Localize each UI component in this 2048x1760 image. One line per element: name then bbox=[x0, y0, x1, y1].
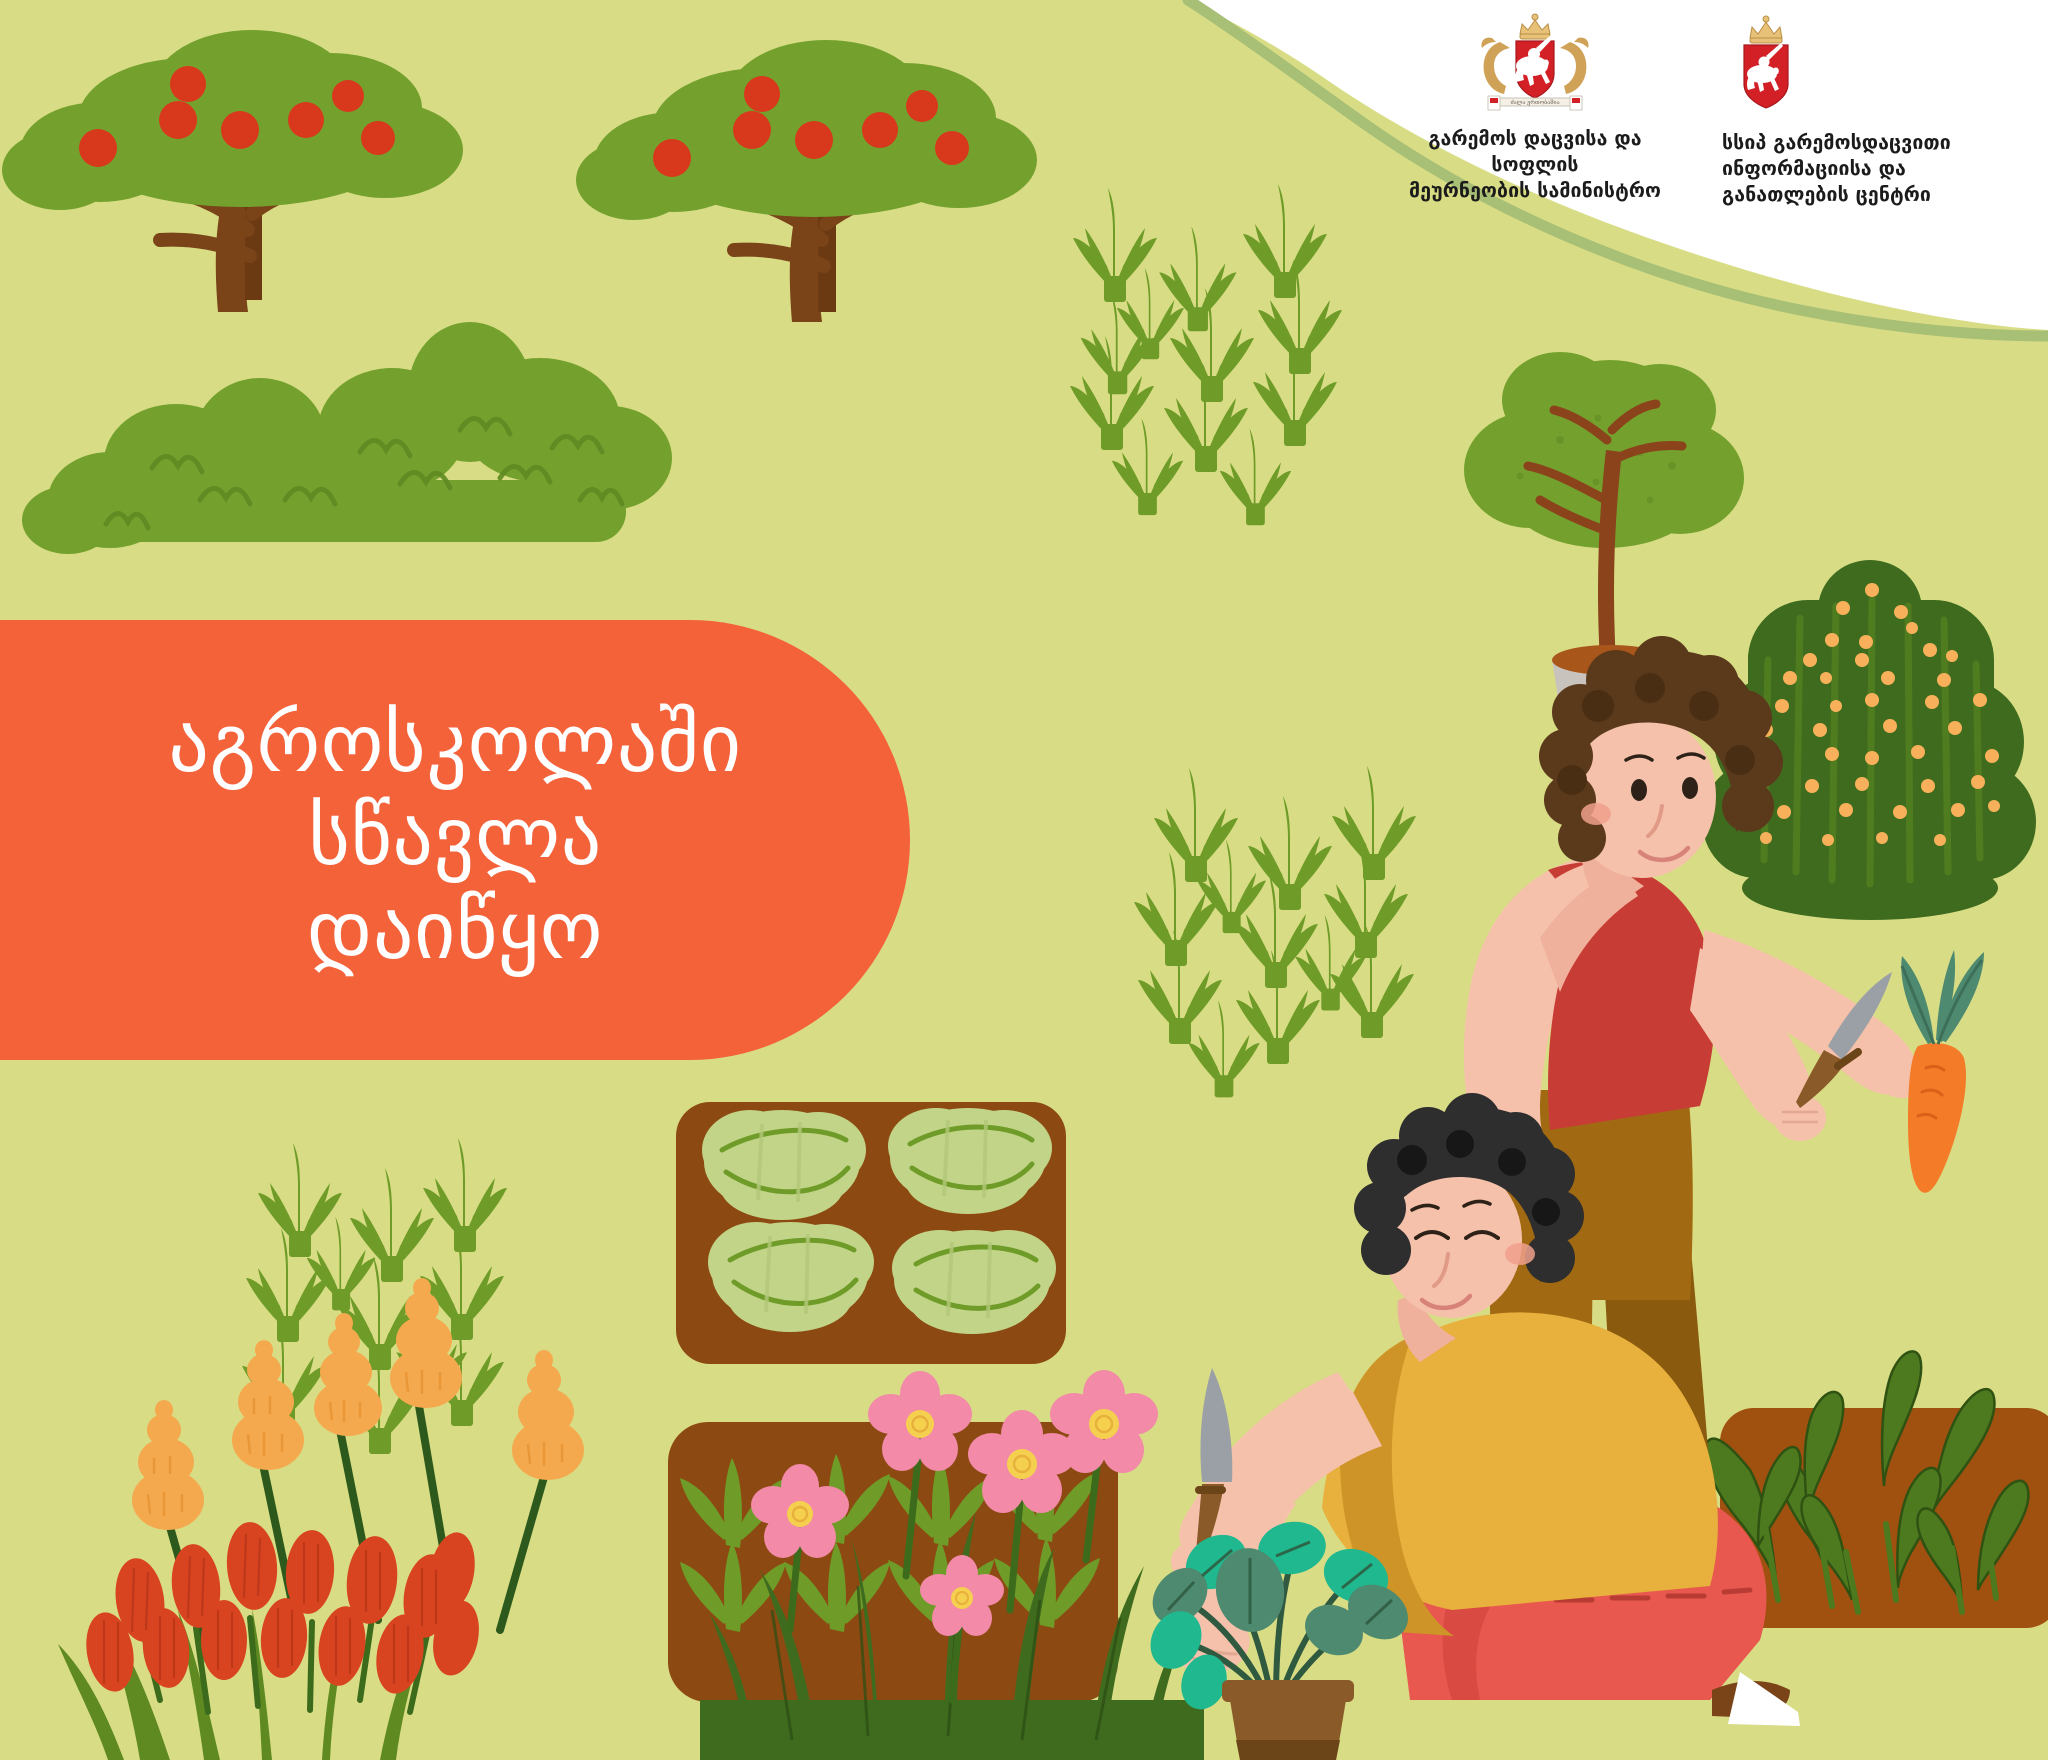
svg-text:ძალა ერთობაშია: ძალა ერთობაშია bbox=[1510, 99, 1559, 106]
poster-canvas: აგროსკოლაში სწავლა დაიწყო bbox=[0, 0, 2048, 1760]
title-banner: აგროსკოლაში სწავლა დაიწყო bbox=[0, 620, 910, 1060]
logo-center: სსიპ გარემოსდაცვითი ინფორმაციისა და განა… bbox=[1722, 14, 1962, 208]
page-title: აგროსკოლაში სწავლა დაიწყო bbox=[128, 697, 741, 984]
header-logos: ძალა ერთობაშია გარემოს დაცვისა და სოფლის… bbox=[1290, 0, 2048, 230]
carrot-icon bbox=[1901, 950, 1984, 1193]
logo-ministry: ძალა ერთობაშია გარემოს დაცვისა და სოფლის… bbox=[1400, 14, 1670, 204]
kneeling-gardener bbox=[1169, 1093, 1800, 1726]
logo-ministry-caption: გარემოს დაცვისა და სოფლის მეურნეობის სამ… bbox=[1400, 126, 1670, 204]
logo-center-caption: სსიპ გარემოსდაცვითი ინფორმაციისა და განა… bbox=[1722, 130, 1951, 208]
georgia-coat-of-arms-full-icon: ძალა ერთობაშია bbox=[1470, 14, 1600, 114]
georgia-shield-crest-icon bbox=[1722, 16, 1804, 116]
